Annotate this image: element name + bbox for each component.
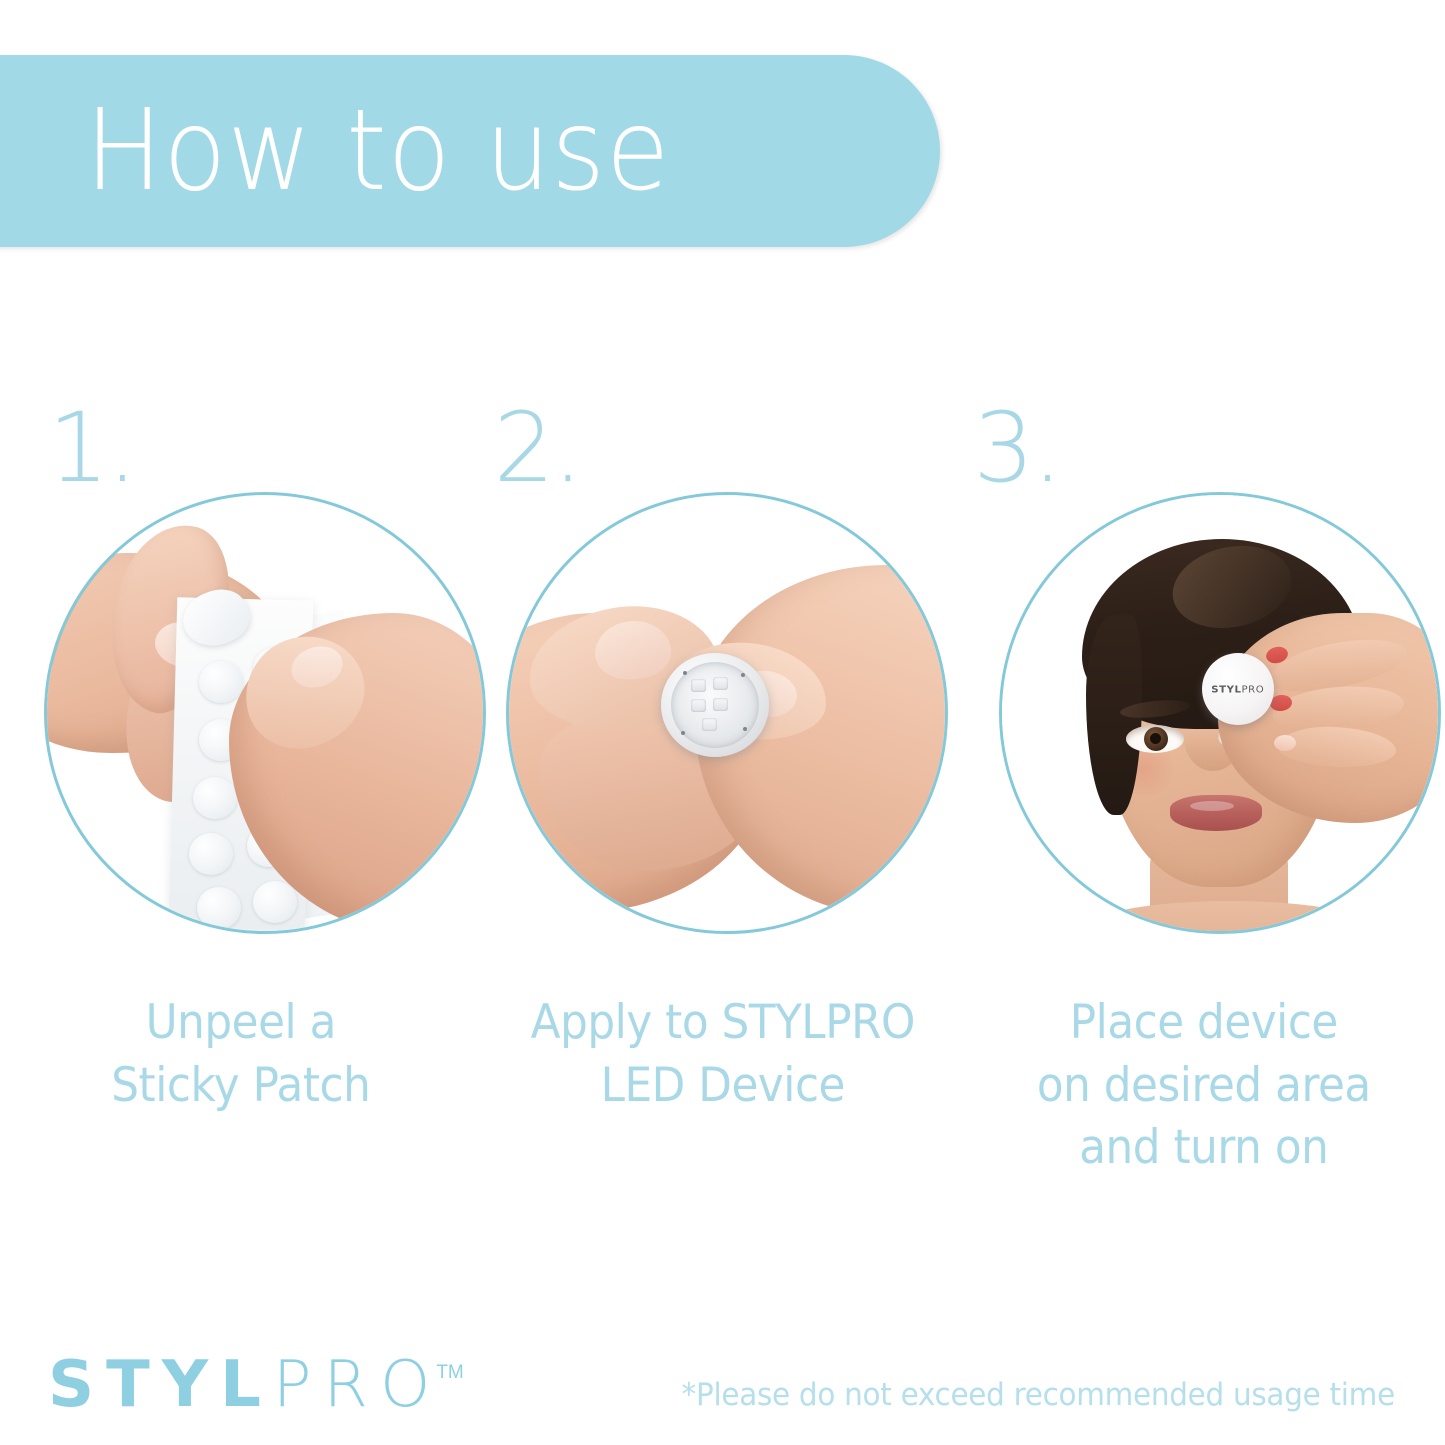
step-2-caption-line-1: Apply to STYLPRO: [498, 992, 946, 1055]
step-2-caption: Apply to STYLPRO LED Device: [498, 992, 946, 1117]
step-2-caption-line-2: LED Device: [498, 1055, 946, 1118]
trademark-symbol: TM: [436, 1362, 463, 1383]
step-3-number: 3.: [973, 400, 1061, 496]
step-1-caption-line-1: Unpeel a: [17, 992, 465, 1055]
device-brand-label: STYLPRO: [1212, 683, 1265, 695]
step-1-caption-line-2: Sticky Patch: [17, 1055, 465, 1118]
usage-footnote: *Please do not exceed recommended usage …: [682, 1377, 1395, 1413]
header-banner: How to use: [0, 55, 940, 247]
step-1-number: 1.: [48, 400, 136, 496]
step-3-image-circle: STYLPRO: [999, 492, 1441, 934]
step-3-caption-line-1: Place device: [980, 992, 1428, 1055]
brand-logo-styl: STYL: [48, 1348, 273, 1422]
step-1-caption: Unpeel a Sticky Patch: [17, 992, 465, 1117]
step-2-number: 2.: [494, 400, 582, 496]
step-3-caption: Place device on desired area and turn on: [980, 992, 1428, 1180]
step-1-photo: [47, 495, 483, 931]
step-1-image-circle: [44, 492, 486, 934]
page-title: How to use: [85, 95, 670, 207]
step-3-photo: STYLPRO: [1002, 495, 1438, 931]
brand-logo-pro: PRO: [273, 1348, 442, 1422]
step-2-photo: [509, 495, 945, 931]
brand-logo: STYLPROTM: [48, 1353, 470, 1417]
step-3-device: STYLPRO: [1202, 653, 1274, 725]
step-3-caption-line-3: and turn on: [980, 1117, 1428, 1180]
step-3-caption-line-2: on desired area: [980, 1055, 1428, 1118]
footer: STYLPROTM *Please do not exceed recommen…: [0, 1315, 1445, 1445]
step-2-image-circle: [506, 492, 948, 934]
